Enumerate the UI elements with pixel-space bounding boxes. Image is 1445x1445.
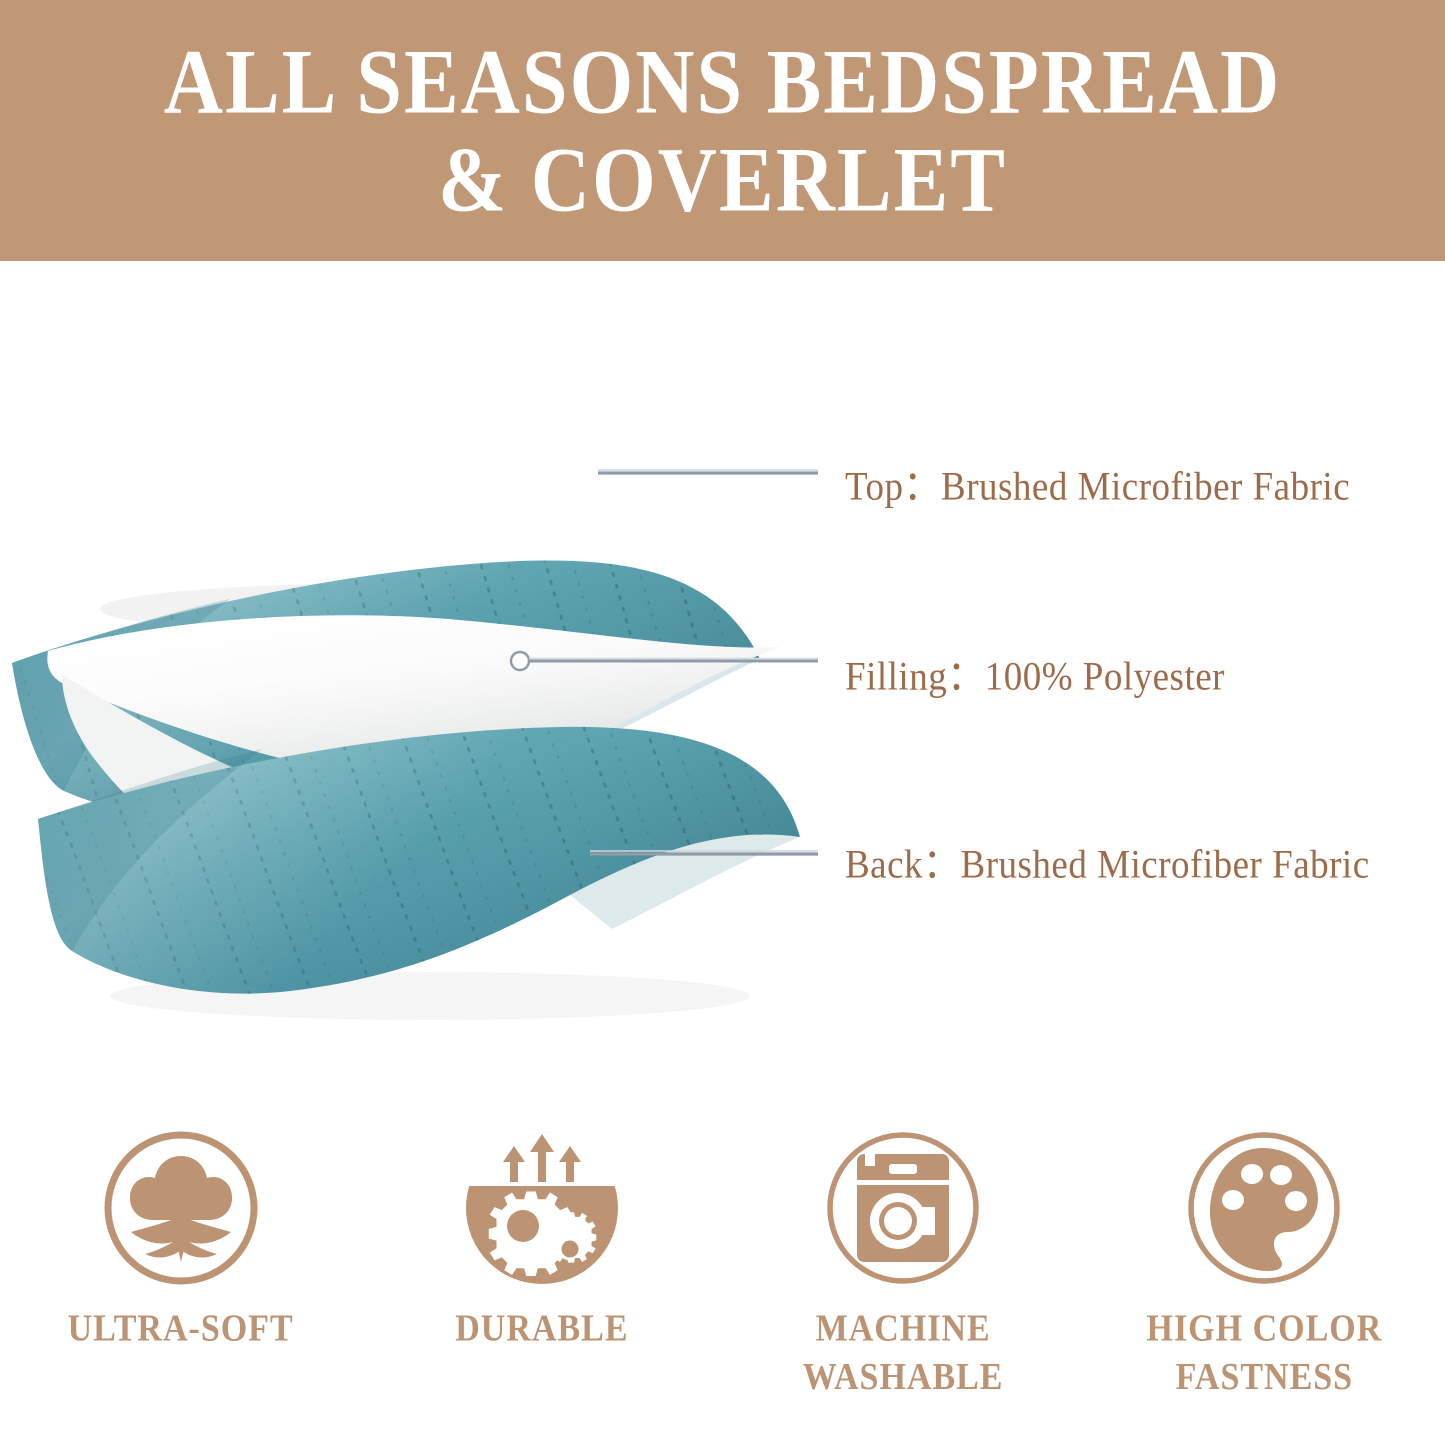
layers-illustration (0, 261, 1445, 1091)
caption-line-1: HIGH COLOR (1147, 1308, 1383, 1349)
page-title-line-2: & COVERLET (438, 132, 1007, 226)
leader-dot-filling (511, 652, 529, 670)
layer-label-filling: Filling：100% Polyester (845, 642, 1225, 701)
layer-label-back: Back：Brushed Microfiber Fabric (845, 830, 1370, 889)
header-banner: ALL SEASONS BEDSPREAD & COVERLET (0, 0, 1445, 261)
gears-arrows-icon (462, 1128, 622, 1288)
feature-caption-ultra-soft: ULTRA-SOFT (68, 1306, 294, 1354)
caption-line-1: MACHINE (816, 1308, 991, 1349)
feature-icons-row: ULTRA-SOFT DURABL (0, 1128, 1445, 1445)
feature-ultra-soft: ULTRA-SOFT (11, 1128, 351, 1349)
feature-machine-washable: MACHINEWASHABLE (733, 1128, 1073, 1391)
washing-machine-icon (823, 1128, 983, 1288)
fabric-layers-diagram (0, 261, 1445, 1091)
caption-line-2: FASTNESS (1176, 1356, 1353, 1397)
cotton-flower-icon (101, 1128, 261, 1288)
caption-line-2: WASHABLE (803, 1356, 1004, 1397)
layer-label-top: Top：Brushed Microfiber Fabric (845, 452, 1350, 511)
page-title-line-1: ALL SEASONS BEDSPREAD (164, 35, 1281, 129)
feature-caption-machine-washable: MACHINEWASHABLE (803, 1306, 1004, 1401)
feature-high-color-fastness: HIGH COLORFASTNESS (1094, 1128, 1434, 1391)
feature-caption-durable: DURABLE (455, 1306, 628, 1354)
feature-durable: DURABLE (372, 1128, 712, 1349)
paint-palette-icon (1184, 1128, 1344, 1288)
feature-caption-high-color-fastness: HIGH COLORFASTNESS (1147, 1306, 1383, 1401)
